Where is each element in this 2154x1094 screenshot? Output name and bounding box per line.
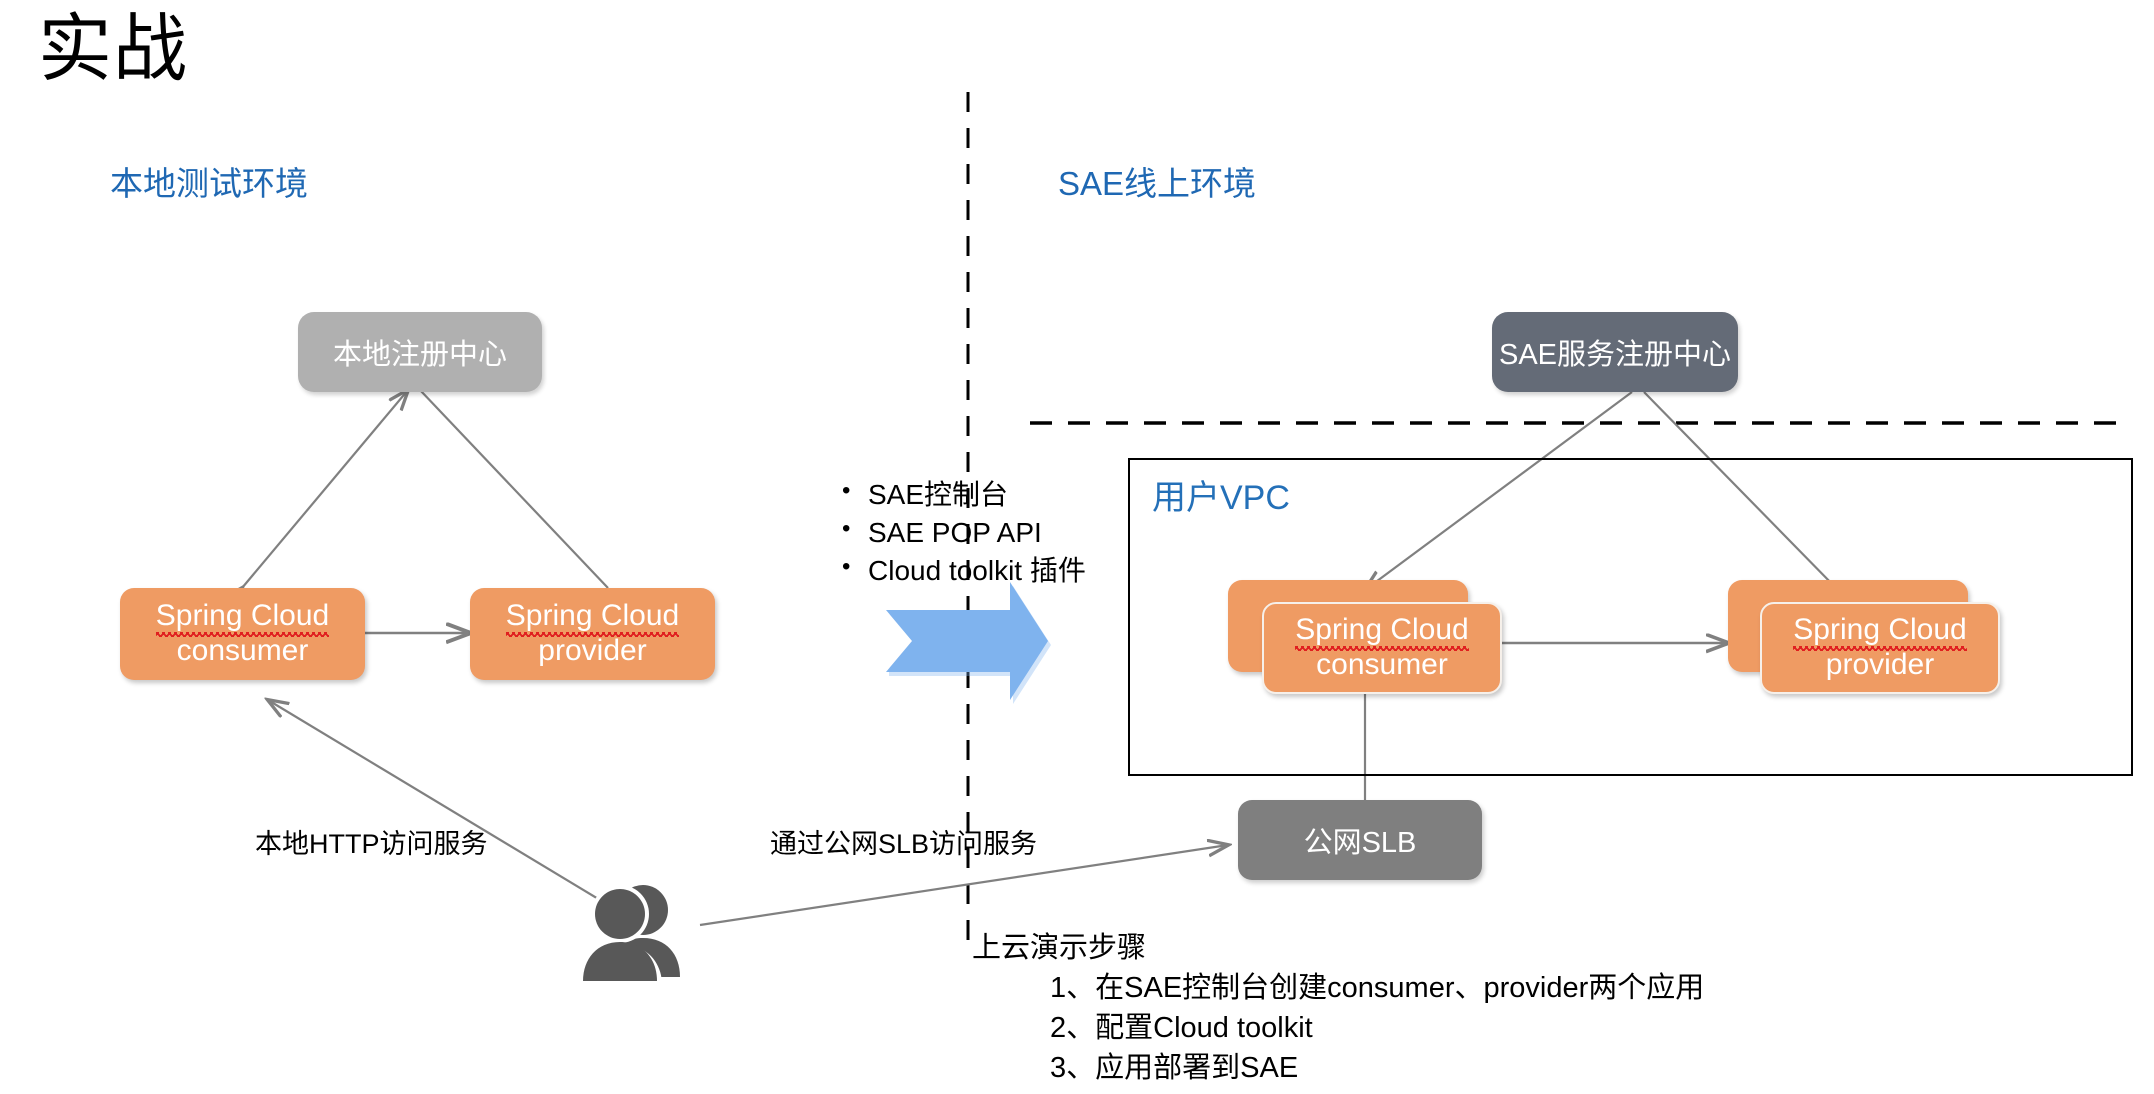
page-title: 实战 (38, 10, 188, 88)
public-slb-label: 公网SLB (1304, 819, 1417, 861)
sae-registry-label: SAE服务注册中心 (1499, 331, 1731, 373)
sae-registry-node[interactable]: SAE服务注册中心 (1492, 312, 1738, 392)
local-consumer-node[interactable]: Spring Cloud consumer (120, 588, 365, 680)
right-arrow-icon (886, 582, 1051, 704)
local-consumer-label-line2: consumer (156, 634, 329, 669)
local-environment-label: 本地测试环境 (110, 157, 308, 205)
cloud-consumer-label-line1: Spring Cloud (1295, 613, 1468, 648)
cloud-environment-label: SAE线上环境 (1058, 157, 1256, 205)
demo-step-item: 2、配置Cloud toolkit (1050, 1008, 1704, 1048)
local-registry-label: 本地注册中心 (333, 331, 507, 373)
wire-local-registry-provider (420, 390, 608, 588)
demo-steps-block: 上云演示步骤 1、在SAE控制台创建consumer、provider两个应用 … (972, 928, 1704, 1088)
cloud-consumer-label-line2: consumer (1295, 648, 1468, 683)
demo-step-item: 1、在SAE控制台创建consumer、provider两个应用 (1050, 968, 1704, 1008)
local-provider-label-line2: provider (506, 634, 679, 669)
cloud-provider-label-line1: Spring Cloud (1793, 613, 1966, 648)
local-http-flow-label: 本地HTTP访问服务 (255, 822, 488, 861)
wire-user-to-local-consumer (268, 700, 600, 900)
local-consumer-label-line1: Spring Cloud (156, 599, 329, 634)
migration-method-item: Cloud toolkit 插件 (838, 552, 1086, 590)
demo-steps-heading: 上云演示步骤 (972, 928, 1704, 968)
slide-canvas: 实战 本地测试环境 SAE线上环境 (0, 0, 2154, 1094)
user-vpc-label: 用户VPC (1152, 470, 1290, 519)
migration-method-item: SAE控制台 (838, 476, 1086, 514)
migration-method-item: SAE POP API (838, 514, 1086, 552)
local-provider-node[interactable]: Spring Cloud provider (470, 588, 715, 680)
cloud-provider-label-line2: provider (1793, 648, 1966, 683)
slb-access-flow-label: 通过公网SLB访问服务 (770, 822, 1037, 861)
local-registry-node[interactable]: 本地注册中心 (298, 312, 542, 392)
users-icon (570, 880, 690, 985)
migration-methods-list: SAE控制台 SAE POP API Cloud toolkit 插件 (838, 476, 1086, 590)
demo-step-item: 3、应用部署到SAE (1050, 1048, 1704, 1088)
cloud-consumer-node[interactable]: Spring Cloud consumer (1262, 602, 1502, 694)
cloud-provider-node[interactable]: Spring Cloud provider (1760, 602, 2000, 694)
public-slb-node[interactable]: 公网SLB (1238, 800, 1482, 880)
wire-local-consumer-registry (242, 390, 408, 588)
local-provider-label-line1: Spring Cloud (506, 599, 679, 634)
